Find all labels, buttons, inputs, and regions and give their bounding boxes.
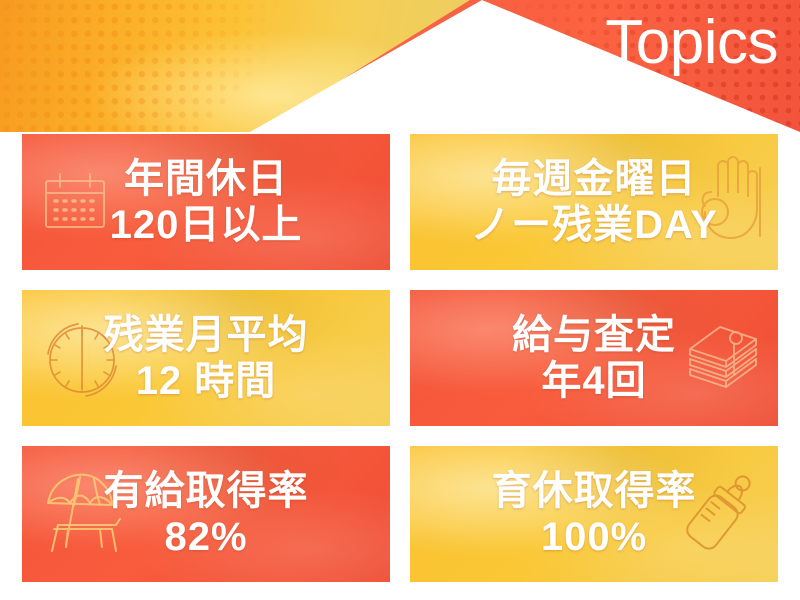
topic-card-text: 毎週金曜日 ノー残業DAY: [470, 156, 718, 249]
topic-card-text: 残業月平均 12 時間: [104, 312, 309, 405]
topic-line-2: 120日以上: [110, 202, 303, 248]
topic-line-1: 給与査定: [512, 312, 676, 358]
topic-line-1: 有給取得率: [104, 468, 309, 514]
topic-line-1: 育休取得率: [492, 468, 697, 514]
topic-card-salary-review: 給与査定 年4回: [410, 290, 778, 426]
topic-card-annual-holidays: 年間休日 120日以上: [22, 134, 390, 270]
topic-line-2: 年4回: [512, 358, 676, 404]
topic-line-2: ノー残業DAY: [470, 202, 718, 248]
topic-card-average-overtime: 残業月平均 12 時間: [22, 290, 390, 426]
topic-card-text: 年間休日 120日以上: [110, 156, 303, 249]
calendar-icon: [38, 165, 112, 239]
topic-card-text: 給与査定 年4回: [512, 312, 676, 405]
topic-line-1: 年間休日: [110, 156, 303, 202]
topics-card-grid: 年間休日 120日以上 毎週金曜日 ノー残業DAY: [22, 134, 778, 582]
topic-card-text: 育休取得率 100%: [492, 468, 697, 561]
topic-line-2: 12 時間: [104, 358, 309, 404]
topic-line-1: 毎週金曜日: [470, 156, 718, 202]
topics-slide: Topics: [0, 0, 800, 600]
topic-card-no-overtime-day: 毎週金曜日 ノー残業DAY: [410, 134, 778, 270]
topic-card-paid-leave-rate: 有給取得率 82%: [22, 446, 390, 582]
page-title: Topics: [605, 12, 778, 74]
money-stack-icon: [676, 315, 768, 401]
topic-card-childcare-leave-rate: 育休取得率 100%: [410, 446, 778, 582]
topic-line-1: 残業月平均: [104, 312, 309, 358]
topic-card-text: 有給取得率 82%: [104, 468, 309, 561]
topic-line-2: 82%: [104, 514, 309, 560]
topic-line-2: 100%: [492, 514, 697, 560]
